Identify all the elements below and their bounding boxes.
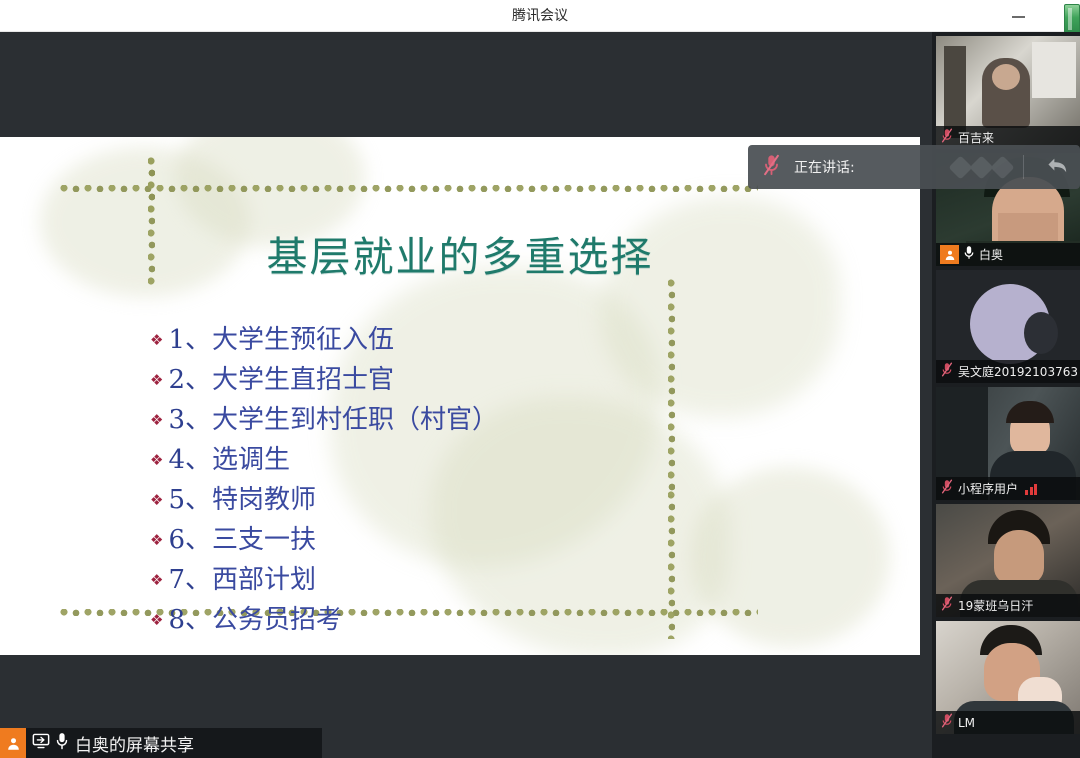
list-item-label: 西部计划 bbox=[212, 559, 316, 596]
list-item-label: 三支一扶 bbox=[212, 519, 316, 556]
list-item-label: 大学生到村任职（村官） bbox=[212, 399, 498, 436]
minimize-button[interactable] bbox=[1004, 0, 1034, 32]
list-item-number: 1、 bbox=[168, 319, 211, 356]
mic-muted-icon bbox=[940, 362, 954, 382]
slide-border-top bbox=[58, 185, 758, 192]
slide-border-left-top bbox=[148, 155, 155, 215]
participant-name: 百吉来 bbox=[958, 129, 994, 146]
participant-name: 吴文庭20192103763 bbox=[958, 363, 1078, 380]
list-item-label: 特岗教师 bbox=[212, 479, 316, 516]
diamond-bullet-icon: ❖ bbox=[150, 611, 163, 629]
list-item-label: 选调生 bbox=[212, 439, 290, 476]
participant-label-bar: LM bbox=[936, 711, 1080, 734]
participant-tile[interactable]: 19蒙班乌日汗 bbox=[936, 504, 1080, 617]
participant-name: LM bbox=[958, 716, 975, 730]
participant-label-bar: 19蒙班乌日汗 bbox=[936, 594, 1080, 617]
mic-muted-icon bbox=[940, 713, 954, 733]
presentation-slide: 基层就业的多重选择 ❖ 1、 大学生预征入伍 ❖ 2、 大学生直招士官 ❖ 3、… bbox=[0, 137, 920, 655]
diamond-bullet-icon: ❖ bbox=[150, 411, 163, 429]
participant-tile[interactable]: 百吉来 bbox=[936, 36, 1080, 149]
list-item-number: 8、 bbox=[168, 599, 211, 636]
diamond-bullet-icon: ❖ bbox=[150, 491, 163, 509]
list-item-number: 6、 bbox=[168, 519, 211, 556]
minimize-icon bbox=[1012, 16, 1025, 18]
shared-screen-stage[interactable]: 基层就业的多重选择 ❖ 1、 大学生预征入伍 ❖ 2、 大学生直招士官 ❖ 3、… bbox=[0, 32, 932, 758]
share-status-icons bbox=[32, 732, 69, 755]
participant-tile[interactable]: 吴文庭20192103763 bbox=[936, 270, 1080, 383]
mic-muted-icon[interactable] bbox=[748, 154, 794, 181]
participant-tile[interactable]: LM bbox=[936, 621, 1080, 734]
participant-name: 19蒙班乌日汗 bbox=[958, 597, 1033, 614]
overlay-divider bbox=[1023, 155, 1024, 179]
list-item: ❖ 7、 西部计划 bbox=[150, 559, 790, 599]
list-item: ❖ 6、 三支一扶 bbox=[150, 519, 790, 559]
list-item-label: 公务员招考 bbox=[212, 599, 342, 636]
mic-icon bbox=[963, 245, 975, 265]
list-item-number: 7、 bbox=[168, 559, 211, 596]
list-item: ❖ 3、 大学生到村任职（村官） bbox=[150, 399, 790, 439]
list-item-label: 大学生预征入伍 bbox=[212, 319, 394, 356]
participant-rail[interactable]: 百吉来 白奥 bbox=[932, 32, 1080, 758]
list-item: ❖ 5、 特岗教师 bbox=[150, 479, 790, 519]
window-title: 腾讯会议 bbox=[0, 0, 1080, 32]
list-item-label: 大学生直招士官 bbox=[212, 359, 394, 396]
signal-bars-icon bbox=[1025, 483, 1037, 495]
diamond-bullet-icon: ❖ bbox=[150, 371, 163, 389]
drag-dots-icon[interactable] bbox=[952, 159, 1011, 176]
mic-muted-icon bbox=[940, 596, 954, 616]
list-item: ❖ 1、 大学生预征入伍 bbox=[150, 319, 790, 359]
participant-label-bar: 白奥 bbox=[936, 243, 1080, 266]
list-item: ❖ 2、 大学生直招士官 bbox=[150, 359, 790, 399]
speaking-label: 正在讲话: bbox=[794, 157, 952, 177]
person-avatar-icon bbox=[0, 728, 26, 758]
participant-label-bar: 吴文庭20192103763 bbox=[936, 360, 1080, 383]
diamond-bullet-icon: ❖ bbox=[150, 531, 163, 549]
person-avatar-icon bbox=[940, 245, 959, 264]
list-item: ❖ 8、 公务员招考 bbox=[150, 599, 790, 639]
participant-label-bar: 小程序用户 bbox=[936, 477, 1080, 500]
list-item-number: 5、 bbox=[168, 479, 211, 516]
share-status-label: 白奥的屏幕共享 bbox=[75, 731, 194, 756]
green-scroll-thumb[interactable] bbox=[1064, 4, 1080, 34]
participant-tile[interactable]: 小程序用户 bbox=[936, 387, 1080, 500]
mic-icon bbox=[55, 732, 69, 755]
slide-title: 基层就业的多重选择 bbox=[0, 223, 920, 283]
diamond-bullet-icon: ❖ bbox=[150, 571, 163, 589]
window-title-bar: 腾讯会议 bbox=[0, 0, 1080, 32]
screen-share-status-bar: 白奥的屏幕共享 bbox=[0, 728, 322, 758]
slide-bullet-list: ❖ 1、 大学生预征入伍 ❖ 2、 大学生直招士官 ❖ 3、 大学生到村任职（村… bbox=[150, 319, 790, 639]
arrow-return-icon[interactable] bbox=[1036, 155, 1080, 180]
screen-share-icon bbox=[32, 733, 50, 754]
diamond-bullet-icon: ❖ bbox=[150, 331, 163, 349]
speaking-indicator-bar[interactable]: 正在讲话: bbox=[748, 145, 1080, 189]
list-item-number: 4、 bbox=[168, 439, 211, 476]
list-item-number: 3、 bbox=[168, 399, 211, 436]
diamond-bullet-icon: ❖ bbox=[150, 451, 163, 469]
list-item: ❖ 4、 选调生 bbox=[150, 439, 790, 479]
mic-muted-icon bbox=[940, 479, 954, 499]
list-item-number: 2、 bbox=[168, 359, 211, 396]
participant-name: 小程序用户 bbox=[958, 480, 1018, 497]
participant-name: 白奥 bbox=[979, 246, 1003, 263]
